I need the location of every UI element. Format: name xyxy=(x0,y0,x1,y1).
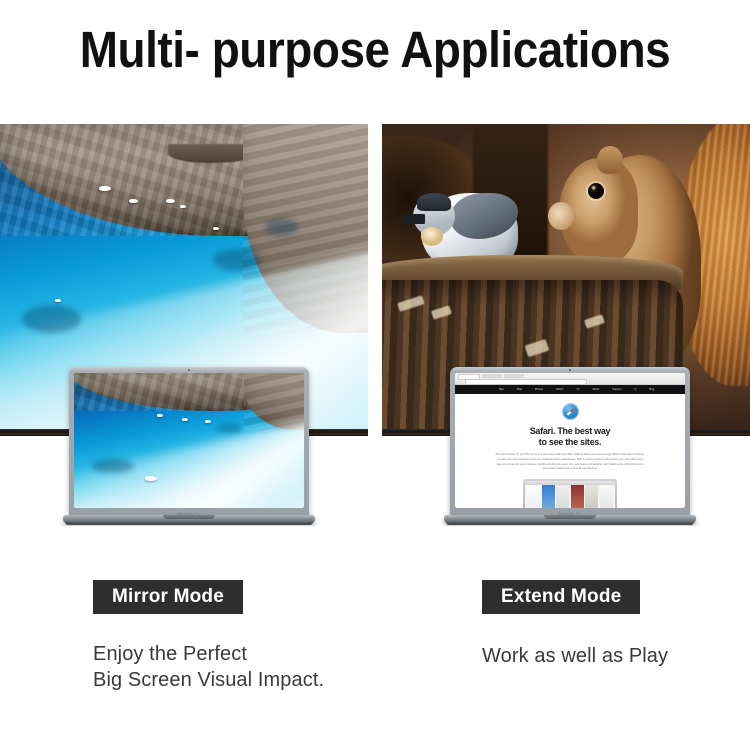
safari-body-text: The best browser for your Mac is the one… xyxy=(495,453,645,472)
macbook-screen-safari: Mac iPad iPhone Watch TV Music Support Q… xyxy=(455,373,685,508)
page-title: Multi- purpose Applications xyxy=(38,20,713,79)
reef-patch xyxy=(213,249,261,271)
nav-item-mac[interactable]: Mac xyxy=(499,388,504,391)
safari-tab[interactable] xyxy=(504,374,524,378)
reef-patch xyxy=(22,305,81,333)
favorites-tile xyxy=(542,484,555,508)
favorites-tile xyxy=(571,484,584,508)
nav-item-support[interactable]: Support xyxy=(612,388,621,391)
shopping-bag-icon[interactable]: Bag xyxy=(650,388,655,391)
boat xyxy=(205,420,211,423)
apple-global-nav[interactable]: Mac iPad iPhone Watch TV Music Support Q… xyxy=(455,385,685,394)
boat xyxy=(157,414,163,417)
macbook-lid: MacBook Pro xyxy=(69,367,309,517)
caption-mirror-mode: Mirror Mode Enjoy the Perfect Big Screen… xyxy=(93,580,324,693)
safari-headline-line1: Safari. The best way xyxy=(455,426,685,437)
safari-compass-icon xyxy=(562,403,579,420)
nav-item-watch[interactable]: Watch xyxy=(556,388,563,391)
favorites-tile xyxy=(527,484,540,508)
macbook-lid: Mac iPad iPhone Watch TV Music Support Q… xyxy=(450,367,690,517)
safari-mini-toolbar xyxy=(525,481,615,485)
macbook-base-shadow xyxy=(65,522,313,525)
favorites-tile xyxy=(556,484,569,508)
caption-extend-mode: Extend Mode Work as well as Play xyxy=(482,580,668,670)
reef-patch xyxy=(217,424,242,432)
boat xyxy=(145,476,157,481)
macbook-screen-mirrored-beach xyxy=(74,373,304,508)
status-badge-mirror-mode: Mirror Mode xyxy=(93,580,243,614)
product-feature-graphic: Multi- purpose Applications xyxy=(0,0,750,750)
macbook-base xyxy=(63,515,315,524)
cliff-right-headland xyxy=(244,373,304,430)
safari-product-image xyxy=(523,479,617,508)
safari-toolbar[interactable] xyxy=(455,373,685,385)
boat xyxy=(129,199,138,203)
bird-seed xyxy=(421,227,443,246)
macbook-lid-notch xyxy=(163,515,215,519)
safari-browser-window: Mac iPad iPhone Watch TV Music Support Q… xyxy=(455,373,685,508)
squirrel-ear xyxy=(597,146,623,174)
macbook-mirror: MacBook Pro xyxy=(63,367,315,526)
boat xyxy=(182,418,188,421)
nav-item-music[interactable]: Music xyxy=(593,388,600,391)
favorites-tile xyxy=(585,484,598,508)
macbook-lid-notch xyxy=(544,515,596,519)
macbook-base xyxy=(444,515,696,524)
bird-cap xyxy=(417,193,451,212)
safari-tab[interactable] xyxy=(482,374,502,378)
address-bar[interactable] xyxy=(465,379,587,385)
boat xyxy=(55,299,61,302)
caption-text-extend-mode: Work as well as Play xyxy=(482,644,668,670)
webcam-icon xyxy=(188,369,190,371)
beach-cove-artwork-mirrored xyxy=(74,373,304,508)
panel-mirror-mode: MacBook Pro xyxy=(0,124,368,526)
search-icon[interactable]: Q xyxy=(635,388,637,391)
nav-item-iphone[interactable]: iPhone xyxy=(535,388,543,391)
favorites-tile xyxy=(600,484,613,508)
status-badge-extend-mode: Extend Mode xyxy=(482,580,640,614)
caption-text-mirror-mode: Enjoy the Perfect Big Screen Visual Impa… xyxy=(93,642,324,693)
boat xyxy=(166,199,175,203)
bird-beak xyxy=(402,214,424,223)
nav-item-tv[interactable]: TV xyxy=(576,388,579,391)
macbook-base-shadow xyxy=(446,522,694,525)
safari-mini-screen xyxy=(525,481,615,508)
safari-hero-section: Safari. The best way to see the sites. T… xyxy=(455,394,685,508)
panel-extend-mode: Mac iPad iPhone Watch TV Music Support Q… xyxy=(382,124,750,526)
nav-item-ipad[interactable]: iPad xyxy=(517,388,522,391)
safari-headline-line2: to see the sites. xyxy=(455,437,685,448)
webcam-icon xyxy=(569,369,571,371)
macbook-extend: Mac iPad iPhone Watch TV Music Support Q… xyxy=(444,367,696,526)
reef-patch xyxy=(92,459,133,473)
